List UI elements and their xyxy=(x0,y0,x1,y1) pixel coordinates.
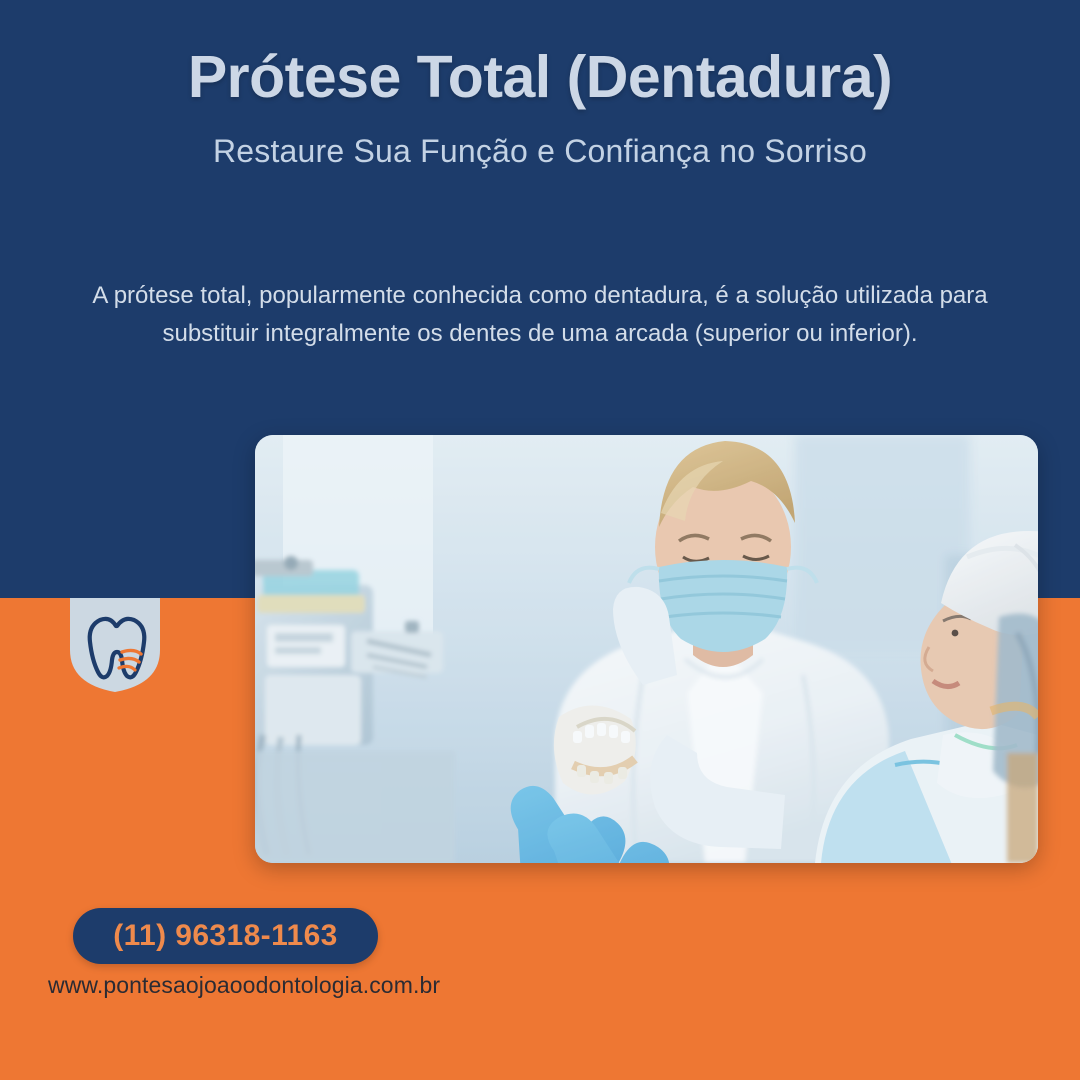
website-url[interactable]: www.pontesaojoaoodontologia.com.br xyxy=(48,972,440,999)
poster-canvas: Prótese Total (Dentadura) Restaure Sua F… xyxy=(0,0,1080,1080)
page-subtitle: Restaure Sua Função e Confiança no Sorri… xyxy=(0,132,1080,170)
phone-badge[interactable]: (11) 96318-1163 xyxy=(73,908,378,964)
phone-number: (11) 96318-1163 xyxy=(113,919,338,953)
body-paragraph: A prótese total, popularmente conhecida … xyxy=(84,277,996,353)
page-title: Prótese Total (Dentadura) xyxy=(0,44,1080,110)
tooth-shield-icon xyxy=(70,598,160,692)
dental-consultation-photo xyxy=(255,435,1038,863)
headline-block: Prótese Total (Dentadura) Restaure Sua F… xyxy=(0,44,1080,170)
